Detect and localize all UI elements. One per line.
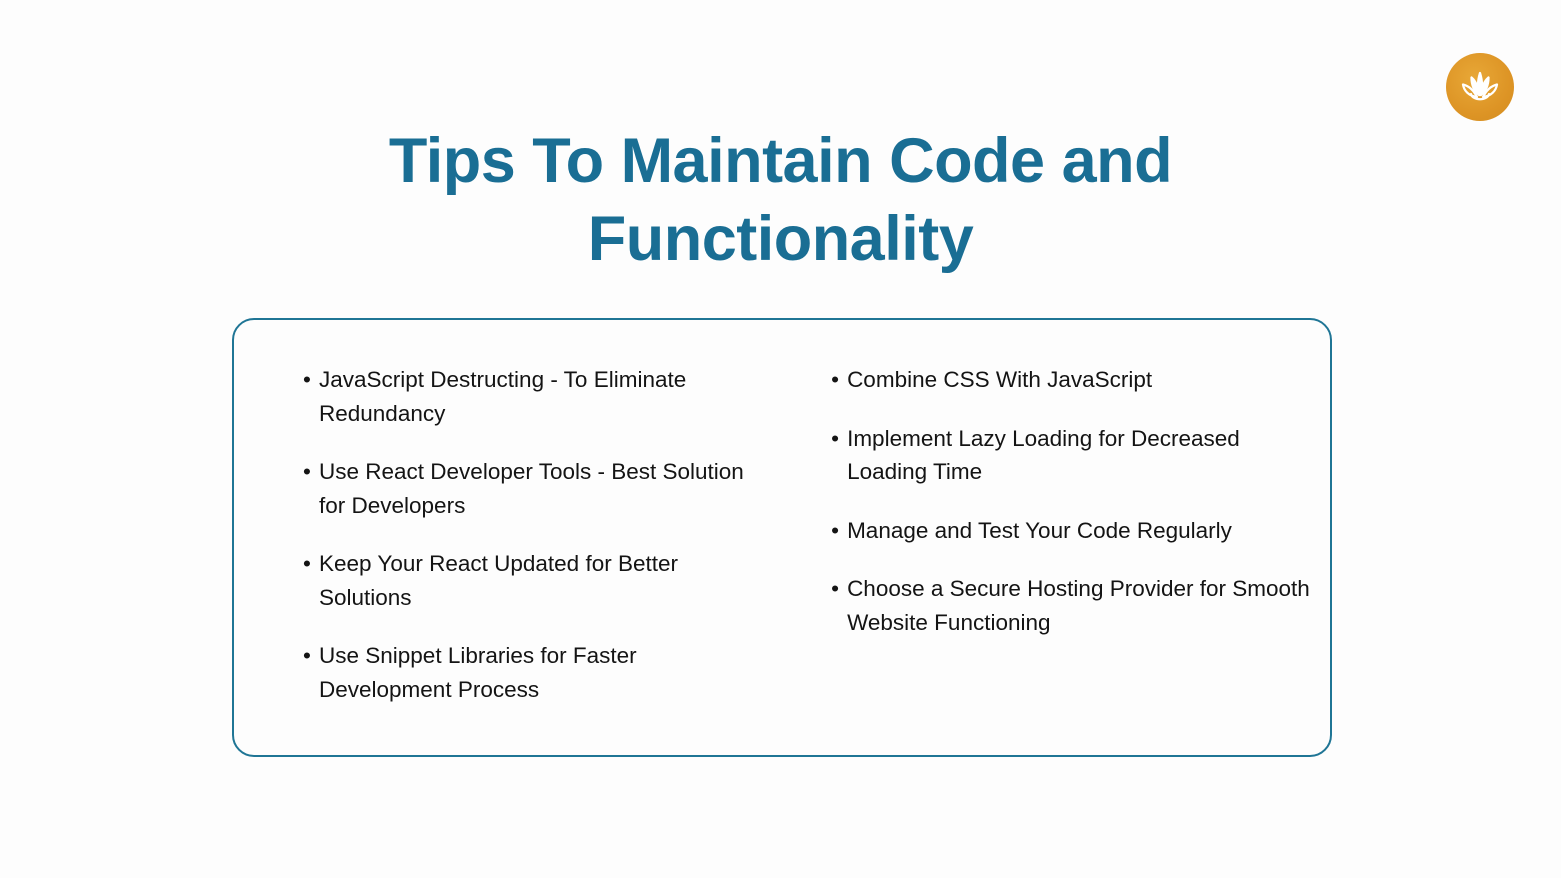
bullet-dot-icon: • [303,639,319,673]
tips-columns: • JavaScript Destructing - To Eliminate … [234,320,1330,755]
bullet-dot-icon: • [831,422,847,456]
page-title: Tips To Maintain Code and Functionality [0,122,1561,278]
list-item-label: Combine CSS With JavaScript [847,363,1310,397]
list-item: • JavaScript Destructing - To Eliminate … [303,363,754,430]
list-item-label: Keep Your React Updated for Better Solut… [319,547,754,614]
list-item-label: Manage and Test Your Code Regularly [847,514,1310,548]
bullet-dot-icon: • [831,514,847,548]
list-item: • Choose a Secure Hosting Provider for S… [831,572,1310,639]
bullet-dot-icon: • [303,363,319,397]
bullet-dot-icon: • [831,363,847,397]
page-title-line-1: Tips To Maintain Code and [180,122,1381,200]
list-item: • Use Snippet Libraries for Faster Devel… [303,639,754,706]
list-item-label: Use React Developer Tools - Best Solutio… [319,455,754,522]
brand-logo [1446,53,1514,121]
lotus-logo-icon [1455,62,1505,112]
list-item-label: Implement Lazy Loading for Decreased Loa… [847,422,1310,489]
tips-right-column: • Combine CSS With JavaScript • Implemen… [764,363,1330,755]
page-title-line-2: Functionality [180,200,1381,278]
tips-card: • JavaScript Destructing - To Eliminate … [232,318,1332,757]
tips-left-column: • JavaScript Destructing - To Eliminate … [234,363,764,755]
list-item: • Manage and Test Your Code Regularly [831,514,1310,548]
list-item: • Implement Lazy Loading for Decreased L… [831,422,1310,489]
bullet-dot-icon: • [831,572,847,606]
list-item-label: Choose a Secure Hosting Provider for Smo… [847,572,1310,639]
bullet-dot-icon: • [303,547,319,581]
bullet-dot-icon: • [303,455,319,489]
list-item-label: Use Snippet Libraries for Faster Develop… [319,639,754,706]
list-item: • Keep Your React Updated for Better Sol… [303,547,754,614]
list-item: • Combine CSS With JavaScript [831,363,1310,397]
list-item-label: JavaScript Destructing - To Eliminate Re… [319,363,754,430]
list-item: • Use React Developer Tools - Best Solut… [303,455,754,522]
